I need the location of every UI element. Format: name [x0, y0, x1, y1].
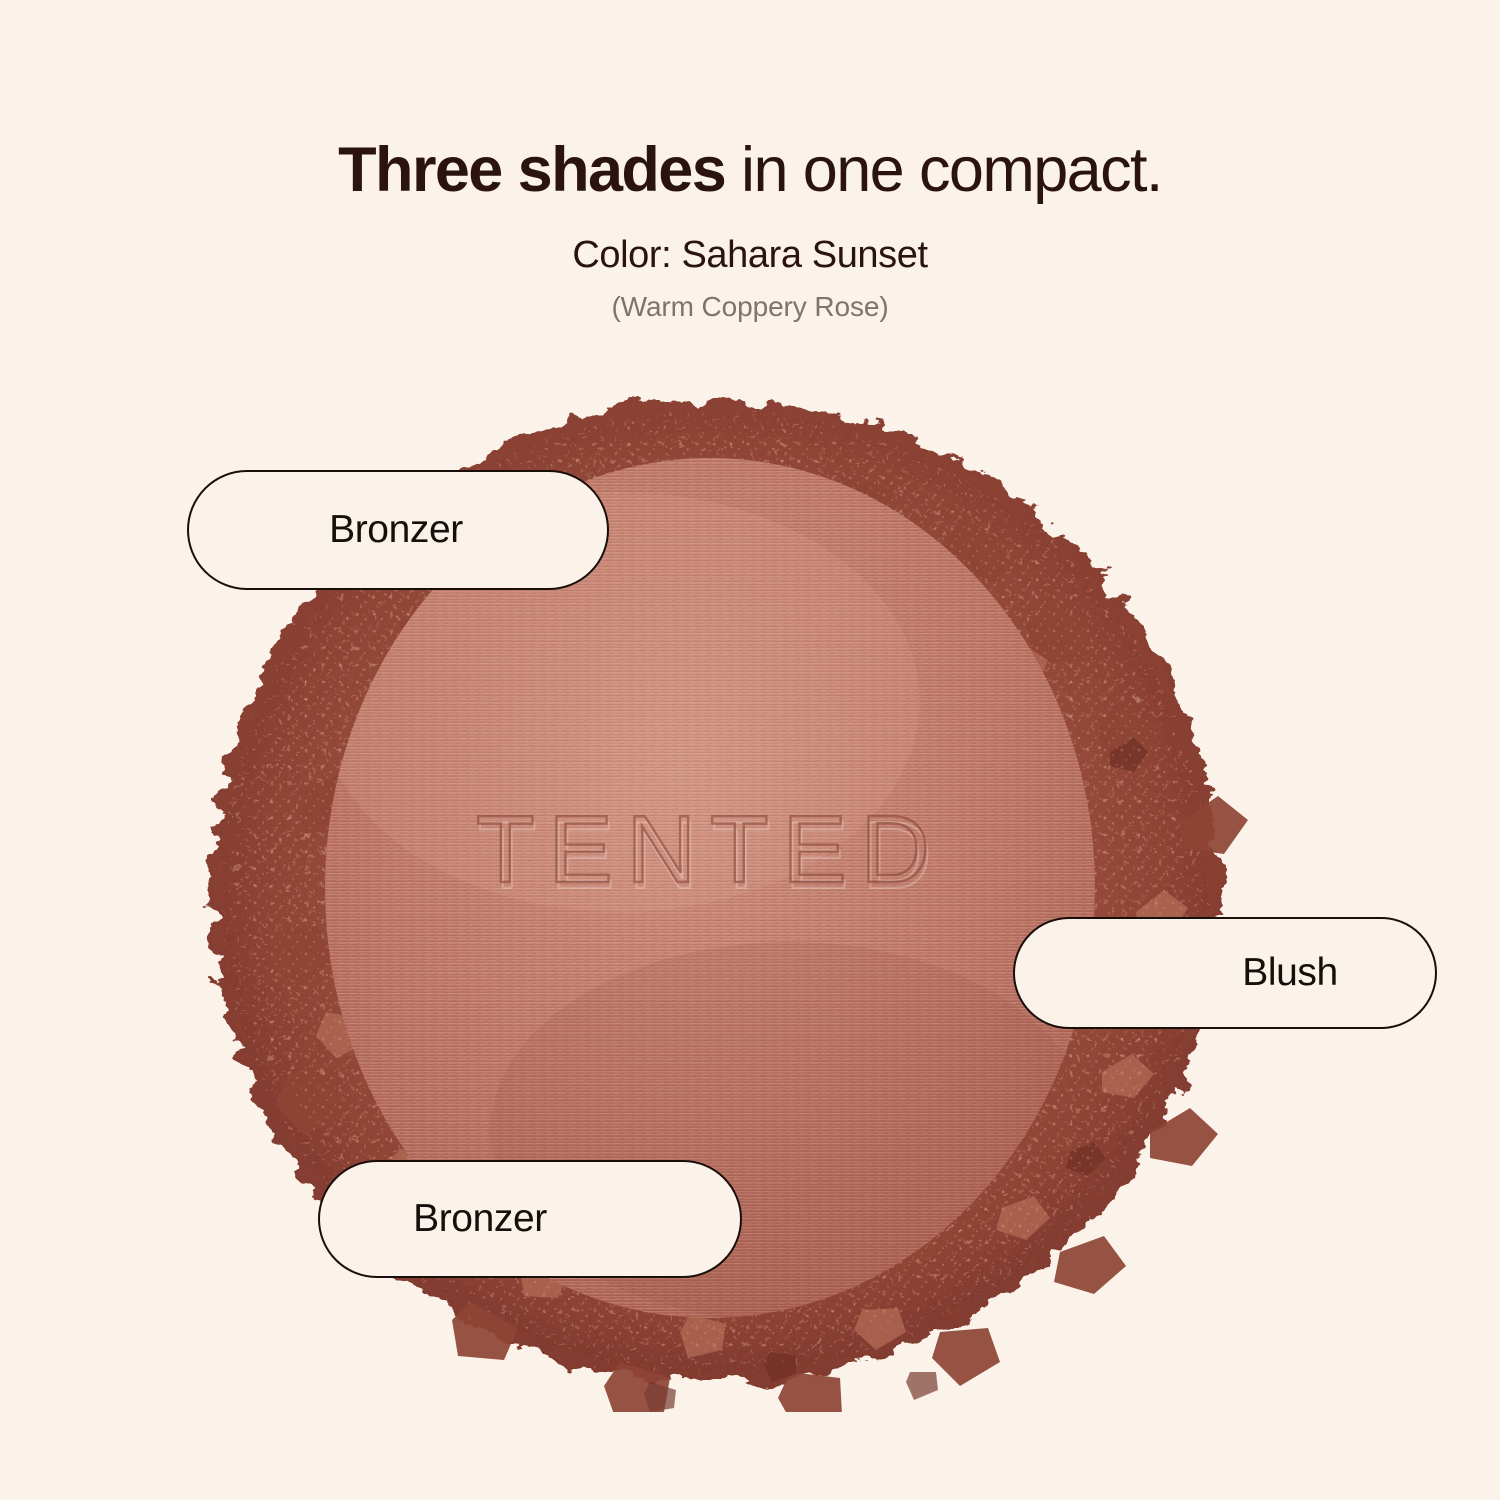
embossed-logo: TENTED TENTED — [476, 796, 946, 909]
label-pill-bronzer-bottom[interactable]: Bronzer — [318, 1160, 742, 1278]
product-marketing-image: Three shades in one compact. Color: Saha… — [0, 0, 1500, 1500]
page-title: Three shades in one compact. — [0, 0, 1500, 204]
label-pill-bronzer-top-text: Bronzer — [329, 508, 463, 552]
page-title-rest: in one compact. — [725, 135, 1162, 205]
label-pill-blush-text: Blush — [1242, 951, 1338, 995]
label-pill-blush[interactable]: Blush — [1013, 917, 1437, 1029]
embossed-logo-text: TENTED — [476, 796, 944, 903]
page-title-strong: Three shades — [338, 135, 725, 205]
label-pill-bronzer-bottom-text: Bronzer — [413, 1197, 547, 1241]
color-name: Color: Sahara Sunset — [0, 204, 1500, 277]
header: Three shades in one compact. Color: Saha… — [0, 0, 1500, 323]
label-pill-bronzer-top[interactable]: Bronzer — [187, 470, 609, 590]
color-description: (Warm Coppery Rose) — [0, 277, 1500, 323]
